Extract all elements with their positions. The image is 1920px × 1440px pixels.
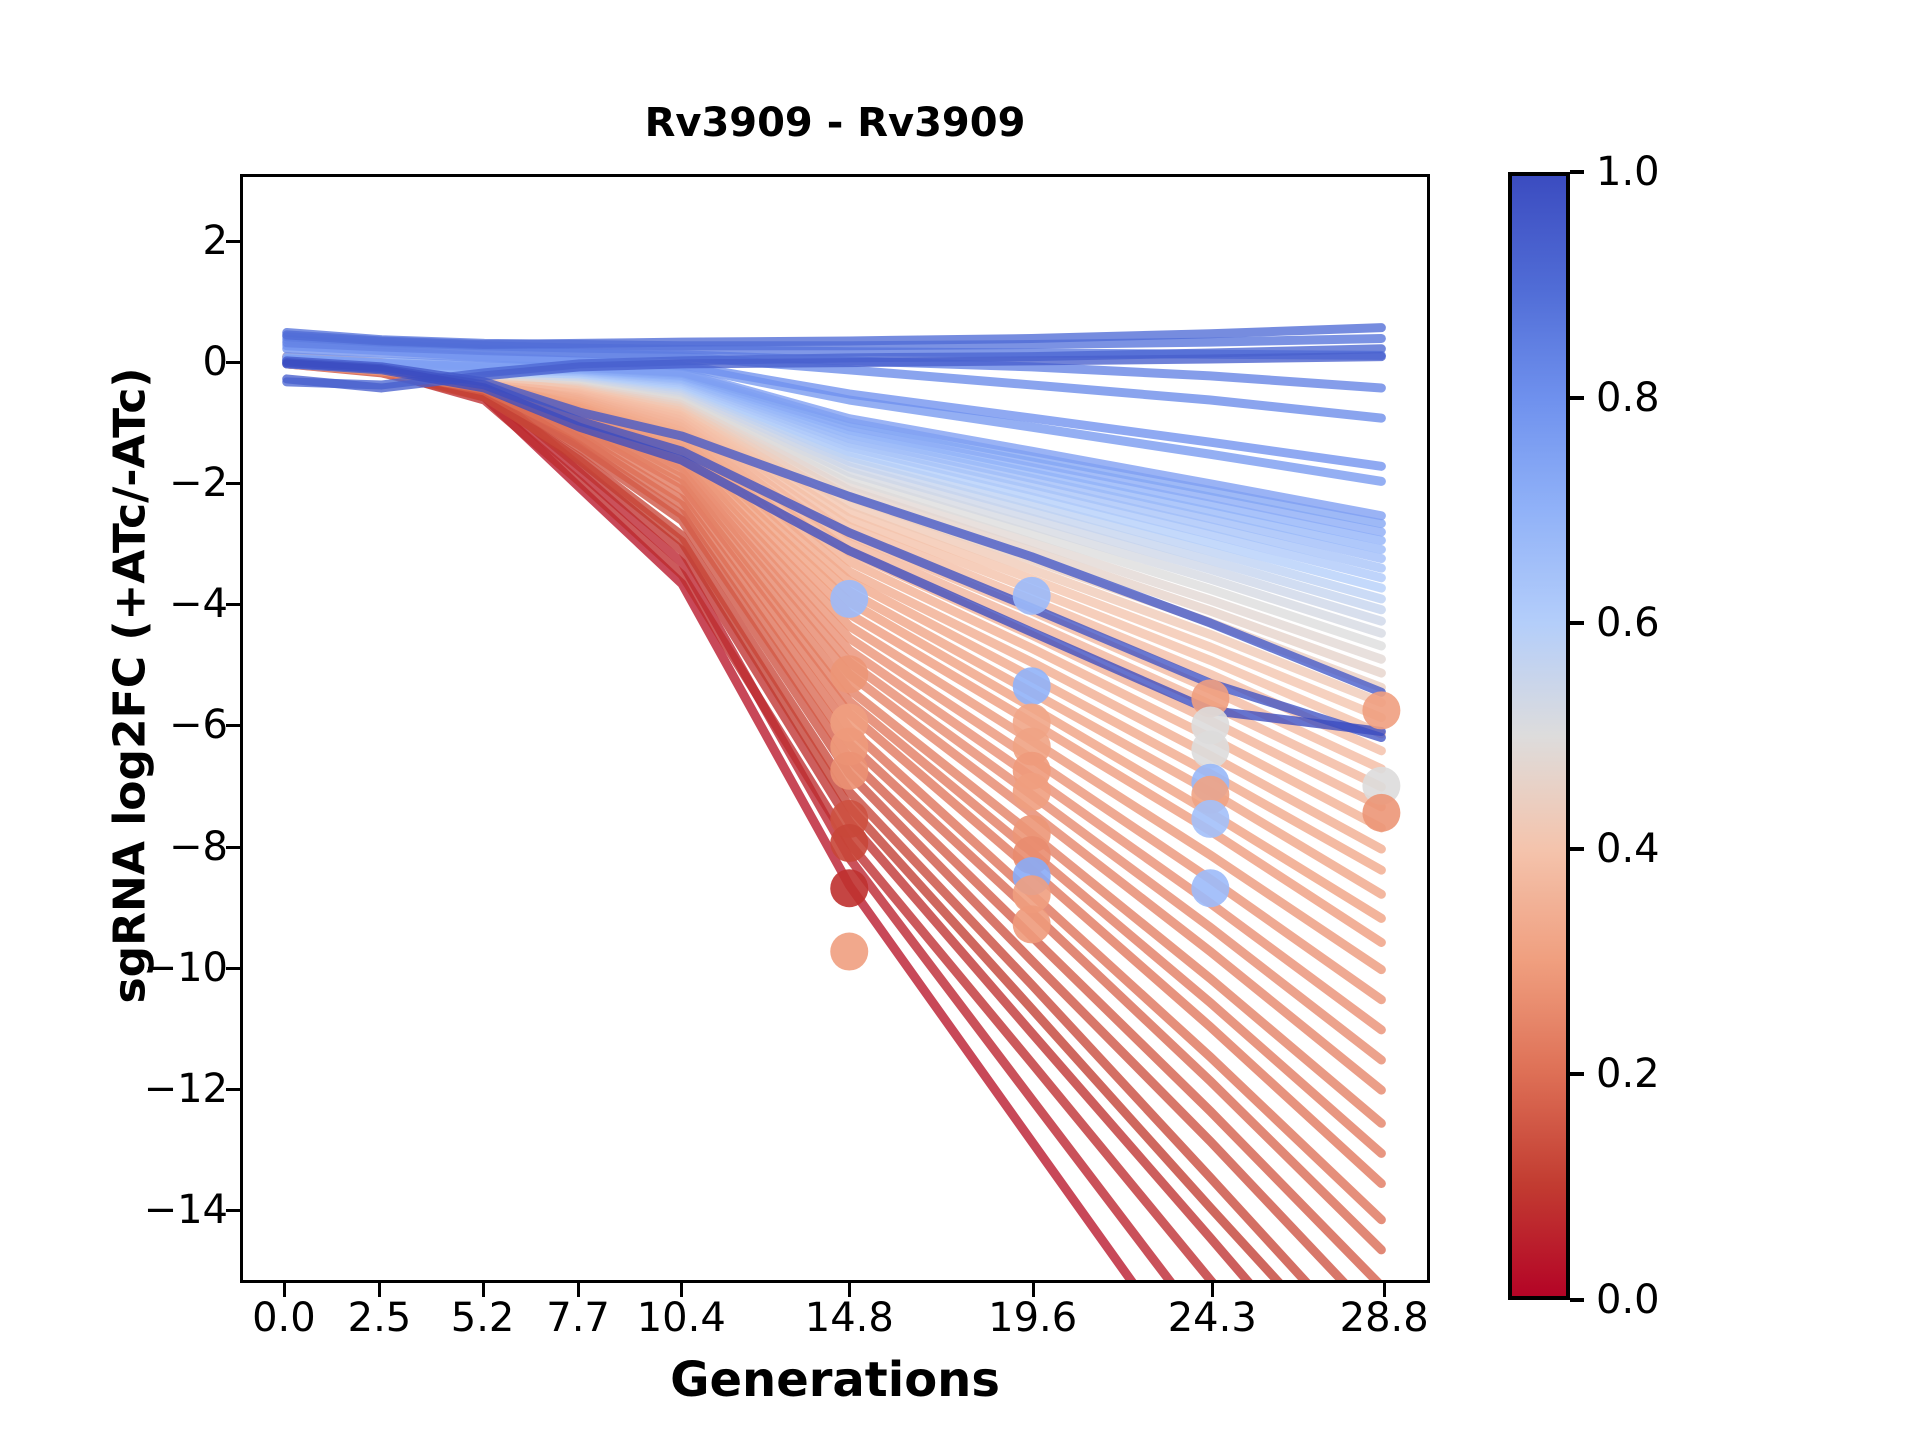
x-tick-label: 19.6	[988, 1295, 1077, 1341]
y-tick-mark	[226, 724, 240, 727]
data-point-marker	[830, 933, 868, 971]
data-point-marker	[830, 824, 868, 862]
x-axis-label: Generations	[240, 1352, 1430, 1408]
y-tick-mark	[226, 482, 240, 485]
x-tick-mark	[283, 1283, 286, 1297]
y-tick-mark	[226, 967, 240, 970]
data-point-marker	[1013, 773, 1051, 811]
x-tick-label: 7.7	[546, 1295, 610, 1341]
x-tick-mark	[848, 1283, 851, 1297]
x-tick-mark	[577, 1283, 580, 1297]
y-tick-label: −4	[169, 581, 228, 627]
y-tick-label: −8	[169, 824, 228, 870]
y-tick-label: −6	[169, 702, 228, 748]
colorbar-tick-mark	[1570, 396, 1584, 400]
data-point-marker	[1013, 577, 1051, 615]
data-point-marker	[1191, 731, 1229, 769]
x-tick-label: 2.5	[348, 1295, 412, 1341]
y-tick-mark	[226, 603, 240, 606]
x-tick-label: 24.3	[1168, 1295, 1257, 1341]
data-point-marker	[1191, 800, 1229, 838]
colorbar-gradient	[1512, 176, 1566, 1296]
y-tick-label: −12	[144, 1066, 228, 1112]
data-point-marker	[1362, 794, 1400, 832]
data-point-marker	[1191, 869, 1229, 907]
page-title: Rv3909 - Rv3909	[240, 100, 1430, 146]
data-point-marker	[830, 869, 868, 907]
x-tick-label: 10.4	[637, 1295, 726, 1341]
x-tick-mark	[378, 1283, 381, 1297]
data-point-marker	[1362, 691, 1400, 729]
colorbar-tick-mark	[1570, 170, 1584, 174]
data-point-marker	[830, 655, 868, 693]
y-axis-label: sgRNA log2FC (+ATc/-ATc)	[105, 186, 156, 1186]
x-tick-mark	[482, 1283, 485, 1297]
y-tick-label: −14	[144, 1187, 228, 1233]
colorbar-tick-label: 0.4	[1596, 826, 1660, 872]
y-tick-label: 0	[203, 339, 228, 385]
colorbar-tick-mark	[1570, 621, 1584, 625]
colorbar-tick-label: 0.8	[1596, 375, 1660, 421]
y-tick-mark	[226, 1209, 240, 1212]
y-tick-mark	[226, 240, 240, 243]
colorbar-tick-label: 0.2	[1596, 1051, 1660, 1097]
data-point-marker	[830, 580, 868, 618]
y-tick-mark	[226, 361, 240, 364]
x-tick-label: 0.0	[252, 1295, 316, 1341]
x-tick-label: 5.2	[451, 1295, 515, 1341]
x-tick-mark	[1211, 1283, 1214, 1297]
plot-area	[240, 174, 1430, 1283]
line-series-canvas	[243, 177, 1427, 1280]
y-tick-label: 2	[203, 218, 228, 264]
x-tick-mark	[1383, 1283, 1386, 1297]
colorbar-tick-label: 1.0	[1596, 149, 1660, 195]
colorbar-tick-mark	[1570, 1072, 1584, 1076]
data-point-marker	[1013, 667, 1051, 705]
y-tick-mark	[226, 1088, 240, 1091]
y-tick-label: −2	[169, 460, 228, 506]
y-tick-label: −10	[144, 945, 228, 991]
figure-canvas: Rv3909 - Rv3909 sgRNA log2FC (+ATc/-ATc)…	[0, 0, 1920, 1440]
x-tick-mark	[1032, 1283, 1035, 1297]
x-tick-label: 28.8	[1340, 1295, 1429, 1341]
colorbar-tick-label: 0.0	[1596, 1277, 1660, 1323]
colorbar	[1508, 172, 1570, 1300]
y-tick-mark	[226, 846, 240, 849]
colorbar-tick-mark	[1570, 1298, 1584, 1302]
x-tick-label: 14.8	[805, 1295, 894, 1341]
colorbar-tick-label: 0.6	[1596, 600, 1660, 646]
x-tick-mark	[680, 1283, 683, 1297]
colorbar-tick-mark	[1570, 847, 1584, 851]
data-point-marker	[1013, 905, 1051, 943]
data-point-marker	[830, 752, 868, 790]
